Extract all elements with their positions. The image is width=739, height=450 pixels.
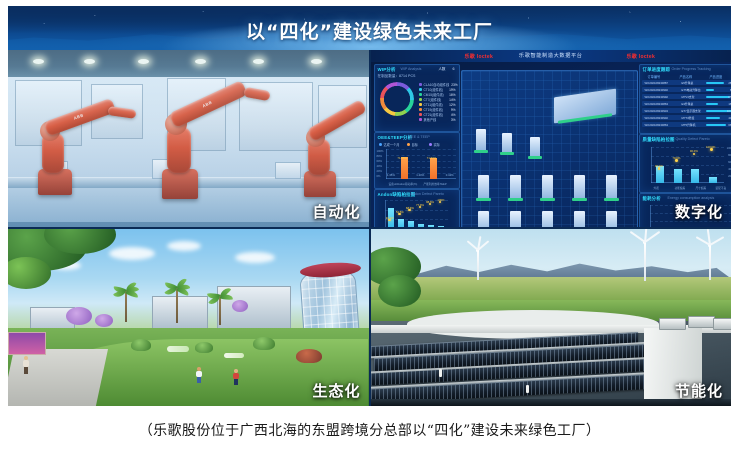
legend-label: 实际 xyxy=(434,142,440,147)
quality-cum-label: 100.0% xyxy=(706,145,716,149)
order-table-row[interactable]: WO202108230940 ET5电动升降台 8 xyxy=(642,87,732,92)
robot-base-3d xyxy=(604,198,619,201)
order-id: WO202108230992 xyxy=(645,95,668,99)
mountain-range xyxy=(371,257,732,278)
legend-swatch-icon xyxy=(419,113,422,116)
quality-y2-tick: 20% xyxy=(728,175,731,178)
gridline xyxy=(386,161,456,162)
figure-page: 以“四化”建设绿色未来工厂 xyxy=(0,0,739,450)
page-title: 以“四化”建设绿色未来工厂 xyxy=(8,17,731,44)
cloud-decor xyxy=(109,247,155,260)
wip-total-label: 在制品数量：8714 PCS xyxy=(378,74,416,79)
oee-baseline-label: 1.20% xyxy=(416,173,424,177)
quality-x-tick: 尺寸超差 xyxy=(696,186,707,190)
legend-label: 目标 xyxy=(412,142,418,147)
quadrant-label-energy: 节能化 xyxy=(675,380,723,401)
quality-cum-label: 70.0% xyxy=(672,156,680,160)
wip-donut-chart xyxy=(380,82,414,116)
panel-andon-pareto[interactable]: Andon缺陷柏拉图 Andon Defect Pareto xyxy=(374,189,460,227)
order-progress-bar xyxy=(706,82,724,84)
turbine-mast xyxy=(709,246,711,280)
panel-title-wip-en: WIP Analysis xyxy=(401,67,422,71)
robot-base-3d xyxy=(540,198,555,201)
quadrant-automation: ABB ABB xyxy=(8,50,369,227)
order-table-row[interactable]: WO202108230863 MT5升降机 66 xyxy=(642,122,732,127)
robot-3d xyxy=(478,175,489,199)
turbine-blade xyxy=(645,231,661,243)
wip-count-value: 6 xyxy=(453,67,455,71)
banner-header: 以“四化”建设绿色未来工厂 xyxy=(8,6,731,50)
order-product: E5升降桌 xyxy=(682,81,694,85)
andon-cum-label: 88.6% xyxy=(426,200,434,204)
order-table-row[interactable]: WO202108230940 M7T3壁挂 40 xyxy=(642,115,732,120)
order-id: WO202108230863 xyxy=(645,123,668,127)
legend-value: 14% xyxy=(449,98,455,102)
platform-title: 乐歌智能制造大数据平台 xyxy=(519,52,583,59)
oee-y-tick: 40% xyxy=(377,165,382,168)
blossom-tree xyxy=(95,314,113,327)
order-progress-value: 40 xyxy=(728,116,731,120)
panel-title-andon-en: Andon Defect Pareto xyxy=(411,192,444,196)
order-col-header: 产品进度 xyxy=(710,74,723,79)
grass-field-far xyxy=(371,277,732,302)
legend-swatch-icon xyxy=(419,88,422,91)
legend-value: 19% xyxy=(449,88,455,92)
oee-legend-item: 达成一个月 xyxy=(379,142,400,147)
cloud-decor xyxy=(167,241,201,251)
turbine-mast xyxy=(477,250,479,280)
legend-swatch-icon xyxy=(419,118,422,121)
shrub xyxy=(253,337,275,350)
order-progress-value: 104 xyxy=(727,109,731,113)
hvac-unit xyxy=(659,318,686,331)
order-product: M7V3支架 xyxy=(682,95,695,99)
order-col-header: 订单编号 xyxy=(648,74,661,79)
shrub-red xyxy=(296,349,322,363)
legend-label: 其他产线 xyxy=(424,117,437,122)
quality-bar xyxy=(709,177,717,183)
order-table-row[interactable]: WO202108230934 ET7显示器支架 104 xyxy=(642,108,732,113)
hvac-unit xyxy=(713,318,731,331)
legend-swatch-icon xyxy=(429,143,432,146)
legend-swatch-icon xyxy=(419,83,422,86)
oee-y-tick: 80% xyxy=(377,155,382,158)
info-panel-signage xyxy=(8,332,46,355)
legend-value: 9% xyxy=(451,108,456,112)
order-id: WO202108230934 xyxy=(645,109,668,113)
legend-swatch-icon xyxy=(379,143,382,146)
order-id: WO202108230887 xyxy=(645,81,668,85)
turbine-mast xyxy=(644,243,646,281)
order-product: ET5电动升降台 xyxy=(682,88,701,92)
person-legs xyxy=(24,367,28,374)
legend-swatch-icon xyxy=(419,93,422,96)
robot-base-3d xyxy=(500,152,514,155)
quality-bar xyxy=(691,169,699,183)
robot-3d xyxy=(574,175,585,199)
order-id: WO202108230940 xyxy=(645,88,668,92)
oee-x-tick: 设备utilization稼动率(%) xyxy=(389,182,418,186)
robot-3d xyxy=(542,175,553,199)
oee-baseline-label: 0.42% xyxy=(446,173,454,177)
person-legs xyxy=(234,379,238,385)
quadrant-energy: 节能化 xyxy=(371,229,732,406)
energy-y-axis xyxy=(650,205,651,227)
order-progress-value: 16 xyxy=(728,102,731,106)
oee-y-tick: 0% xyxy=(377,175,381,178)
palm-trunk xyxy=(219,295,221,325)
robot-base-3d xyxy=(508,198,523,201)
quality-x-tick: 功能偏差 xyxy=(675,186,686,190)
panel-title-order-en: Order Progress Tracking xyxy=(672,67,711,71)
gridline xyxy=(386,149,456,150)
worker-figure xyxy=(439,369,442,377)
robot-3d xyxy=(510,211,521,227)
quality-plot-area: 40.0% 70.0% 90.0% 100.0% xyxy=(651,147,724,183)
oee-bar xyxy=(401,157,408,179)
oee-plot-area: 71.85% 71.50% 1.35% 1.20% 0.42% xyxy=(386,149,456,179)
order-table-row[interactable]: WO202108230863 E3升降桌 16 xyxy=(642,101,732,106)
legend-value: 12% xyxy=(449,103,455,107)
order-progress-bar xyxy=(706,117,720,119)
oee-x-tick: 产能利用效率TEEP xyxy=(424,182,447,186)
cloud-decor xyxy=(235,252,275,263)
quality-y2-tick: 40% xyxy=(728,168,731,171)
wind-turbine xyxy=(471,240,485,280)
panel-title-energy: 能耗分析 xyxy=(643,196,661,202)
panel-order-tracking[interactable]: 订单进度跟踪 Order Progress Tracking 订单编号 产品名称… xyxy=(639,64,732,134)
order-id: WO202108230863 xyxy=(645,102,668,106)
order-product: M7T3壁挂 xyxy=(682,116,695,120)
person-figure xyxy=(232,369,240,385)
legend-value: 4% xyxy=(451,113,456,117)
tree-canopy xyxy=(8,257,51,289)
wip-count-label: 人数 xyxy=(438,67,445,72)
quality-cum-label: 90.0% xyxy=(690,149,698,153)
four-modernizations-figure: 以“四化”建设绿色未来工厂 xyxy=(8,6,731,406)
order-progress-bar xyxy=(706,89,714,91)
oee-legend-item: 实际 xyxy=(429,142,440,147)
legend-value: 3% xyxy=(451,118,456,122)
order-progress-value: 66 xyxy=(728,123,731,127)
palm-tree xyxy=(116,282,136,322)
blossom-tree xyxy=(232,300,248,312)
quality-bar xyxy=(674,169,682,183)
quality-y2-tick: 60% xyxy=(728,161,731,164)
palm-trunk xyxy=(125,290,127,322)
legend-swatch-icon xyxy=(419,108,422,111)
robot-base-3d xyxy=(474,150,488,153)
panel-quality-pareto[interactable]: 质量缺陷柏拉图 Quality Defect Pareto xyxy=(639,134,732,193)
figure-caption: （乐歌股份位于广西北海的东盟跨境分总部以“四化”建设未来绿色工厂） xyxy=(0,420,739,440)
andon-cum-label: 77.9% xyxy=(416,203,424,207)
legend-swatch-icon xyxy=(419,98,422,101)
flower-bed xyxy=(224,353,244,358)
robot-3d xyxy=(542,211,553,227)
person-body xyxy=(23,360,29,367)
panel-title-order: 订单进度跟踪 xyxy=(643,67,671,73)
quadrant-label-digitalization: 数字化 xyxy=(675,201,723,222)
panel-oee-teep[interactable]: OEE&TEEP分析 OEE & TEEP 达成一个月 目标 实际 xyxy=(374,132,460,189)
quadrant-label-automation: 自动化 xyxy=(312,201,360,222)
oee-y-tick: 20% xyxy=(377,170,382,173)
robot-3d xyxy=(530,137,540,157)
blossom-tree xyxy=(66,307,92,325)
wind-turbine xyxy=(702,233,718,279)
oee-y-tick: 100% xyxy=(377,150,384,153)
gridline xyxy=(385,210,448,211)
wip-legend-item: 其他产线 3% xyxy=(419,117,456,122)
legend-swatch-icon xyxy=(419,103,422,106)
person-figure xyxy=(195,367,203,383)
brand-logo-left: 乐歌 loctek xyxy=(465,53,494,60)
andon-bar xyxy=(418,224,424,228)
quality-cum-label: 40.0% xyxy=(655,164,663,168)
order-progress-value: 8 xyxy=(730,88,731,92)
panel-title-energy-en: Energy consumption analysis xyxy=(668,196,715,200)
andon-cum-label: 68.3% xyxy=(406,206,414,210)
palm-tree xyxy=(167,279,187,323)
robot-base-3d xyxy=(528,156,542,159)
order-progress-bar xyxy=(706,96,730,98)
panel-title-oee: OEE&TEEP分析 xyxy=(378,135,413,141)
panel-title-wip: WIP分析 xyxy=(378,67,396,73)
oee-baseline-label: 1.35% xyxy=(387,173,395,177)
andon-bar xyxy=(408,221,414,227)
oee-legend-item: 目标 xyxy=(407,142,418,147)
oee-bar-label: 71.50% xyxy=(427,156,437,160)
panel-wip-analysis[interactable]: WIP分析 WIP Analysis 人数 6 在制品数量：8714 PCS C… xyxy=(374,64,460,132)
flower-bed xyxy=(167,346,189,352)
robot-3d xyxy=(606,211,617,227)
gridline xyxy=(651,156,724,157)
andon-cum-label: 34.1% xyxy=(386,216,394,220)
andon-y-axis xyxy=(385,200,386,227)
panel-title-quality-en: Quality Defect Pareto xyxy=(676,137,710,141)
robot-3d xyxy=(478,211,489,227)
panel-3d-workshop[interactable] xyxy=(461,70,638,227)
order-id: WO202108230940 xyxy=(645,116,668,120)
robot-3d xyxy=(502,133,512,153)
order-progress-value: 85 xyxy=(728,95,731,99)
panel-title-oee-en: OEE & TEEP xyxy=(409,135,430,139)
order-col-header: 产品名称 xyxy=(680,74,693,79)
quality-x-tick: 外观 xyxy=(654,186,659,190)
andon-bar xyxy=(438,226,444,227)
order-progress-value: 28 xyxy=(728,81,731,85)
andon-plot-area: 34.1% 54.5% 68.3% 77.9% 88.6% 100% xyxy=(385,200,448,227)
order-progress-bar xyxy=(706,124,726,126)
wind-turbine xyxy=(637,229,653,279)
shrub xyxy=(131,339,151,351)
robot-base-3d xyxy=(572,198,587,201)
gridline xyxy=(386,167,456,168)
tree-canopy xyxy=(378,275,421,307)
andon-cum-label: 54.5% xyxy=(396,210,404,214)
quadrant-ecology: 生态化 xyxy=(8,229,369,406)
quadrant-grid: ABB ABB xyxy=(8,50,731,406)
oee-y-tick: 60% xyxy=(377,160,382,163)
palm-frond xyxy=(220,294,233,300)
robot-3d xyxy=(510,175,521,199)
oee-bar xyxy=(430,158,437,179)
oee-bar-label: 71.85% xyxy=(397,156,407,160)
shrub xyxy=(195,342,213,353)
brand-logo-right: 乐歌 loctek xyxy=(627,53,656,60)
person-figure xyxy=(22,356,30,374)
quality-y2-tick: 80% xyxy=(728,154,731,157)
person-legs xyxy=(197,377,201,383)
palm-trunk xyxy=(176,287,178,323)
legend-swatch-icon xyxy=(407,143,410,146)
order-table-row[interactable]: WO202108230992 M7V3支架 85 xyxy=(642,94,732,99)
hvac-unit xyxy=(688,316,715,329)
panel-title-quality: 质量缺陷柏拉图 xyxy=(643,137,675,143)
robot-3d xyxy=(574,211,585,227)
gridline xyxy=(386,155,456,156)
oee-x-axis xyxy=(386,178,456,179)
andon-bar xyxy=(428,225,434,227)
quadrant-label-ecology: 生态化 xyxy=(312,380,360,401)
quadrant-digitalization: 乐歌 loctek 乐歌 loctek 乐歌智能制造大数据平台 WIP分析 WI… xyxy=(371,50,732,227)
quality-y2-tick: 100% xyxy=(727,147,731,150)
turbine-blade xyxy=(710,236,725,246)
order-progress-bar xyxy=(706,103,718,105)
legend-value: 16% xyxy=(449,93,455,97)
robot-3d xyxy=(476,129,486,151)
order-product: MT5升降机 xyxy=(682,123,696,127)
order-table-row[interactable]: WO202108230887 E5升降桌 28 xyxy=(642,80,732,85)
order-product: ET7显示器支架 xyxy=(682,109,701,113)
andon-cum-label: 100% xyxy=(437,198,444,202)
legend-value: 23% xyxy=(451,83,457,87)
quality-x-tick: 装配不良 xyxy=(716,186,727,190)
robot-3d xyxy=(606,175,617,199)
worker-figure xyxy=(526,385,529,393)
order-product: E3升降桌 xyxy=(682,102,694,106)
andon-bar xyxy=(398,219,404,227)
robot-base-3d xyxy=(476,198,491,201)
legend-label: 达成一个月 xyxy=(384,142,400,147)
palm-tree xyxy=(210,287,230,325)
